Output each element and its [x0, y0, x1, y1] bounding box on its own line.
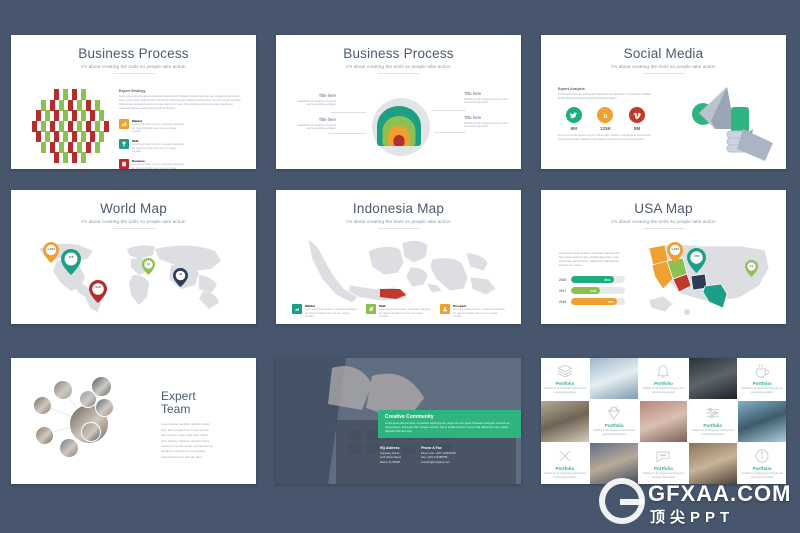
tile-text: Suitable for all categories business and… — [738, 387, 786, 394]
chart-category: 2018 — [559, 300, 571, 304]
portfolio-photo-tile[interactable] — [738, 401, 786, 442]
contact-heading: HQ Address — [380, 446, 401, 450]
title-rule — [643, 73, 685, 74]
contact-block-phone: Phone & Fax Direct Line: +001 123456789 … — [421, 446, 456, 465]
contact-block-address: HQ Address Company Name 1/24 Street Name… — [380, 446, 401, 465]
person-icon — [68, 121, 73, 132]
bar-value: 56% — [608, 300, 614, 304]
person-icon — [63, 110, 68, 121]
tile-text: Suitable for all categories business and… — [541, 472, 589, 479]
trophy-icon — [119, 139, 129, 149]
portfolio-icon-tile[interactable]: PortfolioSuitable for all categories bus… — [738, 358, 786, 399]
footnote: For every 6 emails received, we get 1 iP… — [558, 135, 653, 142]
callout-text: Suitable for all categories business and… — [294, 100, 336, 108]
map-pin[interactable]: 14 — [142, 258, 155, 275]
section-body: Lorem ipsum dolor sit amet consectetur a… — [119, 95, 243, 111]
person-icon — [59, 100, 64, 111]
pin-value: 240 — [89, 285, 107, 289]
person-icon — [86, 100, 91, 111]
team-photo — [33, 396, 52, 415]
page-title: Social Media — [541, 47, 786, 61]
megaphone-in-hand-illustration — [669, 77, 777, 167]
pin-value: 92 — [173, 272, 188, 276]
info-icon — [754, 448, 770, 464]
title-rule — [113, 228, 155, 229]
legend-text: Lorem ipsum dolor sit amet, consectetur … — [379, 309, 432, 320]
tile-heading: Portfolio — [654, 466, 673, 471]
page-title: World Map — [11, 202, 256, 216]
person-icon — [41, 121, 46, 132]
pin-value: 1,240 — [667, 247, 683, 251]
page-subtitle: it's about creating the tools so people … — [541, 64, 786, 69]
person-icon — [63, 152, 68, 163]
portfolio-icon-tile[interactable]: PortfolioSuitable for all categories bus… — [541, 443, 589, 484]
person-icon — [77, 142, 82, 153]
chart-row: 2017 54% — [559, 287, 625, 294]
tile-text: Suitable for all categories business and… — [541, 387, 589, 394]
person-icon — [99, 110, 104, 121]
person-icon — [95, 100, 100, 111]
portfolio-photo-tile[interactable] — [590, 443, 638, 484]
person-icon — [54, 110, 59, 121]
person-icon — [41, 100, 46, 111]
coffee-icon — [754, 363, 770, 379]
tile-heading: Portfolio — [703, 423, 722, 428]
bar-track: 80% — [571, 276, 625, 283]
tile-heading: Portfolio — [555, 466, 574, 471]
person-icon — [45, 110, 50, 121]
portfolio-icon-tile[interactable]: PortfolioSuitable for all categories bus… — [541, 358, 589, 399]
user-icon — [440, 304, 450, 314]
person-icon — [59, 121, 64, 132]
slide-expert-team[interactable]: Expert Team Lorem Ipsum as their default… — [11, 358, 256, 484]
callout-title: Title here — [294, 117, 336, 122]
person-icon — [81, 131, 86, 142]
tile-heading: Portfolio — [753, 466, 772, 471]
person-icon — [72, 152, 77, 163]
bar-track: 54% — [571, 287, 625, 294]
callout-title: Title here — [464, 91, 508, 96]
pin-value: 478 — [687, 254, 706, 258]
slide-social-media[interactable]: Social Media it's about creating the too… — [541, 35, 786, 169]
callout-title: Title here — [294, 93, 336, 98]
map-pin[interactable]: 14 — [745, 260, 758, 277]
lead-text: Of shopping carts are abandoned right be… — [558, 93, 653, 101]
feature-label: Skill — [132, 139, 185, 143]
indonesia-map-graphic — [298, 233, 500, 305]
slide-creative-community[interactable]: Creative Community Lorem ipsum dolor sit… — [276, 358, 521, 484]
chart-category: 2016 — [559, 278, 571, 282]
team-photo — [59, 438, 79, 458]
tile-text: Suitable for all categories business and… — [689, 429, 737, 436]
person-icon — [36, 110, 41, 121]
portfolio-photo-tile[interactable] — [640, 401, 688, 442]
person-icon — [50, 100, 55, 111]
metric-value: 125K — [597, 126, 613, 131]
legend-item[interactable]: Prospect Lorem ipsum dolor sit amet, con… — [440, 304, 506, 320]
map-pin[interactable]: 92 — [173, 268, 188, 287]
person-icon — [32, 121, 37, 132]
tile-heading: Portfolio — [753, 381, 772, 386]
map-pin[interactable]: 478 — [61, 249, 81, 275]
metric-twitter[interactable]: 8M — [566, 107, 582, 131]
tile-text: Suitable for all categories business and… — [738, 472, 786, 479]
portfolio-icon-tile[interactable]: PortfolioSuitable for all categories bus… — [640, 443, 688, 484]
diamond-icon — [606, 405, 622, 421]
legend-label: Market — [305, 304, 358, 308]
pin-value: 14 — [745, 264, 758, 268]
map-pin[interactable]: 1,240 — [43, 242, 59, 263]
title-rule — [113, 73, 155, 74]
person-icon — [68, 100, 73, 111]
year-bar-chart: 2016 80% 2017 54% 2018 — [559, 276, 625, 309]
watermark-domain: GFXAA.COM — [648, 481, 791, 507]
people-cloud-graphic — [25, 87, 111, 165]
pin-value: 1,240 — [43, 247, 59, 251]
portfolio-icon-tile[interactable]: PortfolioSuitable for all categories bus… — [689, 401, 737, 442]
team-photo-cluster — [29, 372, 157, 472]
tile-heading: Portfolio — [654, 381, 673, 386]
feature-text: Lorem ipsum dolor sit amet, consectetur … — [132, 144, 185, 155]
person-icon — [90, 131, 95, 142]
page-title: Business Process — [276, 47, 521, 61]
slide-business-process-dome[interactable]: Business Process it's about creating the… — [276, 35, 521, 169]
leaf-icon — [366, 304, 376, 314]
person-icon — [77, 121, 82, 132]
slide-business-process-people[interactable]: Business Process it's about creating the… — [11, 35, 256, 169]
section-heading: Expert Analysis — [558, 87, 653, 91]
person-icon — [72, 131, 77, 142]
building-icon — [119, 159, 129, 169]
person-icon — [86, 142, 91, 153]
contact-heading: Phone & Fax — [421, 446, 456, 450]
person-icon — [99, 131, 104, 142]
bar-value: 80% — [605, 278, 611, 282]
tile-text: Suitable for all categories business and… — [590, 429, 638, 436]
feature-item[interactable]: Skill Lorem ipsum dolor sit amet, consec… — [119, 139, 185, 155]
title-rule — [378, 228, 420, 229]
callout[interactable]: Title here Suitable for all categories b… — [294, 117, 336, 131]
svg-text:b: b — [604, 112, 608, 119]
vimeo-icon — [629, 107, 645, 123]
slide-usa-map[interactable]: USA Map it's about creating the tools so… — [541, 190, 786, 324]
chart-icon — [292, 304, 302, 314]
tile-text: Suitable for all categories business and… — [640, 472, 688, 479]
layers-icon — [557, 363, 573, 379]
chart-row: 2016 80% — [559, 276, 625, 283]
person-icon — [54, 89, 59, 100]
title-rule — [378, 73, 420, 74]
legend-label: Prospect — [453, 304, 506, 308]
map-pin[interactable]: 478 — [687, 248, 706, 273]
bell-icon — [655, 363, 671, 379]
person-icon — [86, 121, 91, 132]
section-body: Lorem ipsum dolor sit amet, consectetur … — [559, 252, 625, 268]
pin-value: 14 — [142, 262, 155, 266]
person-icon — [63, 89, 68, 100]
team-photo — [95, 398, 114, 417]
person-icon — [81, 152, 86, 163]
feature-text: Lorem ipsum dolor sit amet, consectetur … — [132, 124, 185, 135]
watermark-tagline: 顶尖PPT — [650, 506, 734, 527]
map-pin[interactable]: 240 — [89, 280, 107, 303]
bar-value: 54% — [591, 289, 597, 293]
bar-track: 56% — [571, 298, 625, 305]
callout[interactable]: Title here Suitable for all categories b… — [464, 115, 508, 129]
chart-category: 2017 — [559, 289, 571, 293]
callout-text: Suitable for all categories business and… — [294, 124, 336, 132]
person-icon — [59, 142, 64, 153]
person-icon — [36, 131, 41, 142]
person-icon — [50, 121, 55, 132]
page-subtitle: it's about creating the tools so people … — [11, 219, 256, 224]
person-icon — [81, 89, 86, 100]
team-photo — [53, 380, 73, 400]
person-icon — [90, 110, 95, 121]
slide-portfolio-grid[interactable]: PortfolioSuitable for all categories bus… — [541, 358, 786, 484]
usa-map-graphic — [641, 238, 771, 320]
team-photo — [81, 422, 101, 442]
person-icon — [95, 142, 100, 153]
portfolio-icon-tile[interactable]: PortfolioSuitable for all categories bus… — [738, 443, 786, 484]
close-icon — [557, 448, 573, 464]
portfolio-photo-tile[interactable] — [541, 401, 589, 442]
dome-layer-4 — [394, 135, 405, 146]
tile-heading: Portfolio — [605, 423, 624, 428]
legend-label: Skill — [379, 304, 432, 308]
bar-fill: 80% — [571, 276, 614, 283]
feature-label: Market — [132, 119, 185, 123]
feature-item[interactable]: Revenue Lorem ipsum dolor sit amet, cons… — [119, 159, 185, 169]
page-subtitle: it's about creating the tools so people … — [11, 64, 256, 69]
title-rule — [643, 228, 685, 229]
leader-line — [330, 112, 366, 113]
person-icon — [104, 121, 109, 132]
chat-icon — [655, 448, 671, 464]
page-subtitle: it's about creating the tools so people … — [276, 219, 521, 224]
team-photo — [35, 426, 54, 445]
person-icon — [72, 110, 77, 121]
slide-world-map[interactable]: World Map it's about creating the tools … — [11, 190, 256, 324]
bar-fill: 54% — [571, 287, 600, 294]
section-body: Lorem Ipsum as their default model text,… — [161, 422, 213, 460]
callout-title: Title here — [464, 115, 508, 120]
person-icon — [81, 110, 86, 121]
person-icon — [45, 131, 50, 142]
legend-text: Lorem ipsum dolor sit amet, consectetur … — [453, 309, 506, 320]
contact-line: Contact@company.com — [421, 461, 456, 465]
slide-indonesia-map[interactable]: Indonesia Map it's about creating the to… — [276, 190, 521, 324]
callout-text: Suitable for all categories business and… — [464, 98, 508, 106]
legend-item[interactable]: Skill Lorem ipsum dolor sit amet, consec… — [366, 304, 432, 320]
tile-heading: Portfolio — [555, 381, 574, 386]
pin-value: 478 — [61, 255, 81, 259]
tile-text: Suitable for all categories business and… — [640, 387, 688, 394]
person-icon — [77, 100, 82, 111]
callout[interactable]: Title here Suitable for all categories b… — [294, 93, 336, 107]
leader-line — [432, 110, 466, 111]
behance-icon: b — [597, 107, 613, 123]
metric-value: 8M — [629, 126, 645, 131]
chart-row: 2018 56% — [559, 298, 625, 305]
page-subtitle: it's about creating the tools so people … — [276, 64, 521, 69]
page-subtitle: it's about creating the tools so people … — [541, 219, 786, 224]
portfolio-icon-tile[interactable]: PortfolioSuitable for all categories bus… — [640, 358, 688, 399]
leader-line — [328, 133, 366, 134]
feature-item[interactable]: Market Lorem ipsum dolor sit amet, conse… — [119, 119, 185, 135]
twitter-icon — [566, 107, 582, 123]
person-icon — [54, 152, 59, 163]
chart-icon — [119, 119, 129, 129]
creative-community-panel: Creative Community Lorem ipsum dolor sit… — [378, 410, 521, 438]
slide-thumbnail-board: Business Process it's about creating the… — [0, 0, 800, 533]
panel-body: Lorem ipsum dolor sit amet, consectetur … — [385, 422, 514, 434]
metric-value: 8M — [566, 126, 582, 131]
page-title: USA Map — [541, 202, 786, 216]
callout-text: Suitable for all categories business and… — [464, 122, 508, 130]
metric-behance[interactable]: b 125K — [597, 107, 613, 131]
person-icon — [95, 121, 100, 132]
portfolio-photo-tile[interactable] — [689, 358, 737, 399]
legend-item[interactable]: Market Lorem ipsum dolor sit amet, conse… — [292, 304, 358, 320]
bar-fill: 56% — [571, 298, 617, 305]
page-title: Indonesia Map — [276, 202, 521, 216]
sliders-icon — [705, 405, 721, 421]
portfolio-photo-tile[interactable] — [590, 358, 638, 399]
dome-diagram — [364, 93, 434, 163]
panel-heading: Creative Community — [385, 414, 514, 420]
leader-line — [434, 132, 466, 133]
feature-label: Revenue — [132, 159, 185, 163]
person-icon — [50, 142, 55, 153]
page-title: Business Process — [11, 47, 256, 61]
feature-text: Lorem ipsum dolor sit amet, consectetur … — [132, 164, 185, 169]
person-icon — [68, 142, 73, 153]
callout[interactable]: Title here Suitable for all categories b… — [464, 91, 508, 105]
portfolio-grid: PortfolioSuitable for all categories bus… — [541, 358, 786, 484]
person-icon — [41, 142, 46, 153]
legend-text: Lorem ipsum dolor sit amet, consectetur … — [305, 309, 358, 320]
section-heading: Expert Strategy — [119, 89, 243, 93]
person-icon — [63, 131, 68, 142]
page-title-line2: Team — [161, 403, 213, 416]
portfolio-photo-tile[interactable] — [689, 443, 737, 484]
portfolio-icon-tile[interactable]: PortfolioSuitable for all categories bus… — [590, 401, 638, 442]
metric-vimeo[interactable]: 8M — [629, 107, 645, 131]
person-icon — [72, 89, 77, 100]
person-icon — [54, 131, 59, 142]
map-pin[interactable]: 1,240 — [667, 242, 683, 263]
contact-line: Miami, FL 88305 — [380, 461, 401, 465]
